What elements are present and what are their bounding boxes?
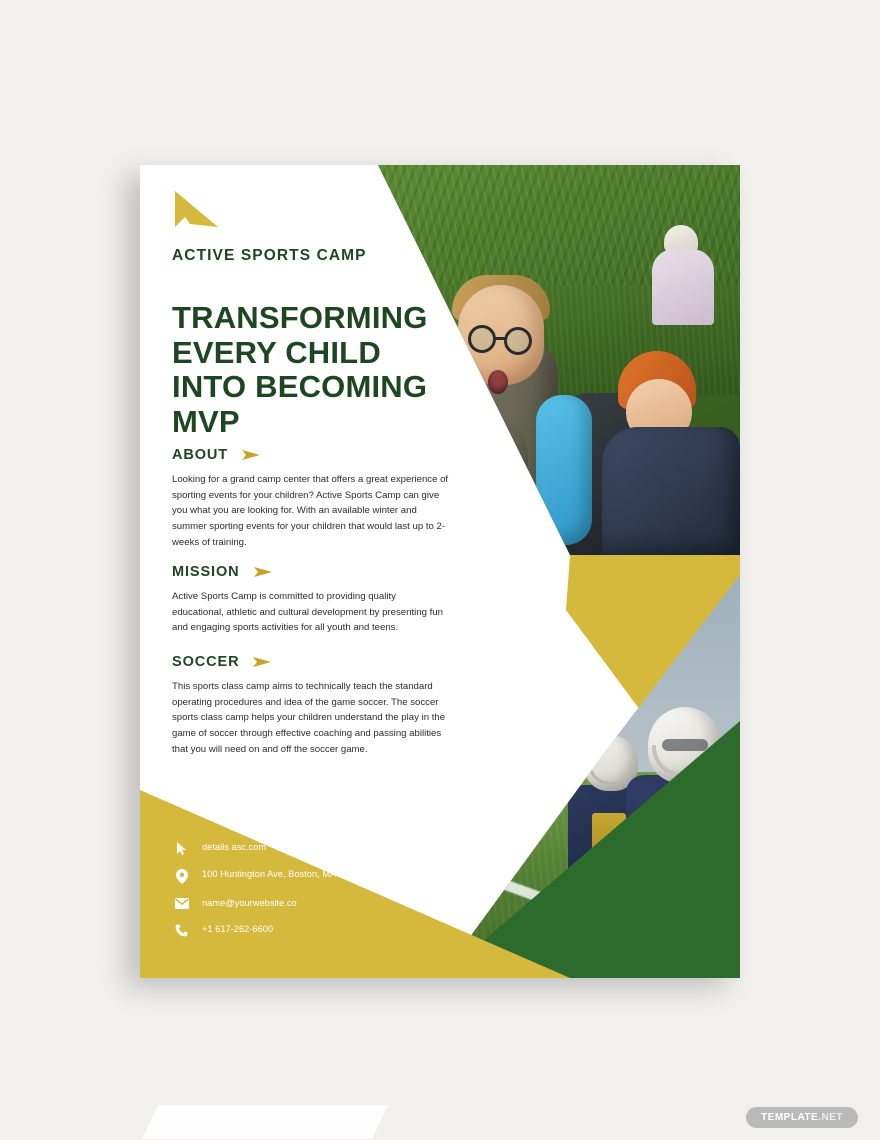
- contact-website[interactable]: details asc.com: [174, 841, 414, 855]
- cursor-icon: [174, 841, 189, 855]
- gold-triangle-marker-icon: [253, 656, 271, 668]
- player-front-visor: [662, 739, 708, 751]
- template-watermark: TEMPLATE.NET: [746, 1107, 858, 1128]
- section-about-header: ABOUT: [172, 447, 462, 463]
- contact-address[interactable]: 100 Huntington Ave, Boston, MA 02116, US…: [174, 868, 414, 884]
- page-title: TRANSFORMING EVERY CHILD INTO BECOMING M…: [172, 301, 462, 440]
- spectator: [470, 753, 490, 787]
- contact-block: details asc.com 100 Huntington Ave, Bost…: [174, 841, 414, 950]
- envelope-icon: [174, 897, 189, 909]
- contact-website-text: details asc.com: [202, 841, 266, 854]
- flyer-card: ACTIVE SPORTS CAMP TRANSFORMING EVERY CH…: [140, 165, 740, 978]
- section-soccer: SOCCER This sports class camp aims to te…: [172, 654, 462, 757]
- glasses-left-lens: [468, 325, 496, 353]
- glasses-right-lens: [504, 327, 532, 355]
- contact-address-text: 100 Huntington Ave, Boston, MA 02116, US…: [202, 868, 388, 881]
- section-mission-header: MISSION: [172, 564, 462, 580]
- section-about-title: ABOUT: [172, 447, 228, 463]
- gold-triangle-marker-icon: [242, 449, 260, 461]
- watermark-primary: TEMPLATE: [761, 1112, 818, 1123]
- section-mission-title: MISSION: [172, 564, 240, 580]
- blue-sleeve: [536, 395, 592, 545]
- section-soccer-title: SOCCER: [172, 654, 239, 670]
- section-soccer-header: SOCCER: [172, 654, 462, 670]
- page-bottom-shadow: [142, 1105, 389, 1139]
- section-mission: MISSION Active Sports Camp is committed …: [172, 564, 462, 636]
- location-pin-icon: [174, 868, 189, 884]
- contact-phone-text: +1 617-262-6600: [202, 923, 273, 936]
- section-mission-body: Active Sports Camp is committed to provi…: [172, 589, 450, 636]
- gold-triangle-marker-icon: [254, 566, 272, 578]
- spectator: [502, 745, 524, 789]
- spectator: [538, 755, 556, 789]
- glasses-bridge: [495, 337, 506, 340]
- section-about: ABOUT Looking for a grand camp center th…: [172, 447, 462, 550]
- contact-phone[interactable]: +1 617-262-6600: [174, 923, 414, 937]
- section-about-body: Looking for a grand camp center that off…: [172, 472, 450, 550]
- watermark-secondary: .NET: [818, 1112, 843, 1123]
- phone-icon: [174, 923, 189, 937]
- child-lilac-coat: [652, 249, 714, 325]
- section-soccer-body: This sports class camp aims to technical…: [172, 679, 450, 757]
- brand-name: ACTIVE SPORTS CAMP: [172, 247, 367, 265]
- contact-email[interactable]: name@yourwebsite.co: [174, 897, 414, 910]
- brand-arrow-icon: [172, 189, 218, 231]
- contact-email-text: name@yourwebsite.co: [202, 897, 297, 910]
- child-navy-jacket: [602, 427, 740, 555]
- boy-mouth: [488, 370, 508, 394]
